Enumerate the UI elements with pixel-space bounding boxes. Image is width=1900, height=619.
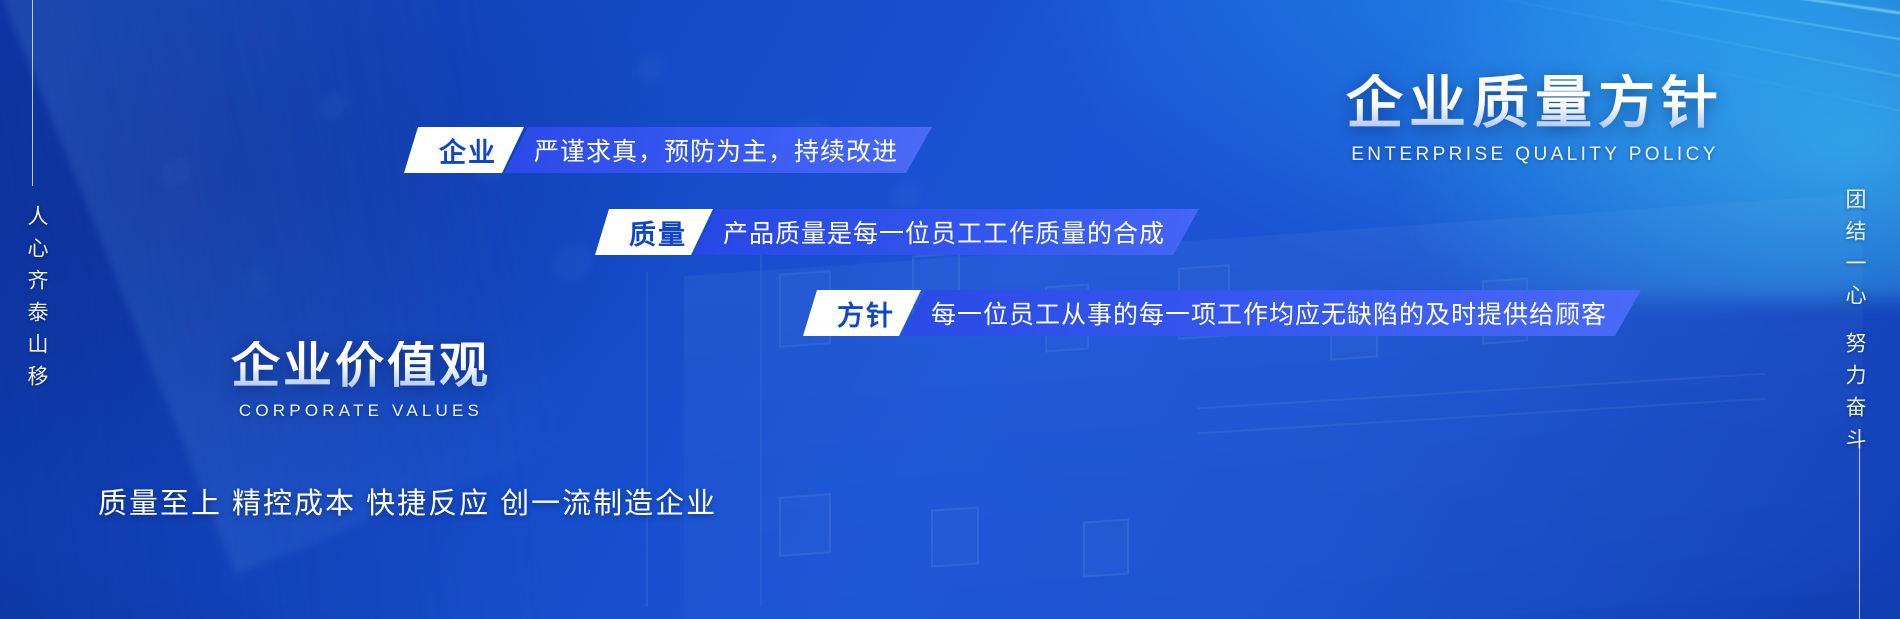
headline-subtitle-en: ENTERPRISE QUALITY POLICY xyxy=(1346,144,1724,166)
corporate-values-block: 企业价值观 CORPORATE VALUES xyxy=(196,341,526,421)
corporate-values-title-cn: 企业价值观 xyxy=(196,341,526,392)
banner-canvas: 人心齐泰山移 团结一心 努力奋斗 企业质量方针 ENTERPRISE QUALI… xyxy=(0,0,1900,619)
policy-row-3-text: 每一位员工从事的每一项工作均应无缺陷的及时提供给顾客 xyxy=(931,295,1607,331)
policy-row-2-text: 产品质量是每一位员工工作质量的合成 xyxy=(723,214,1165,250)
policy-row-3: 方针 每一位员工从事的每一项工作均应无缺陷的及时提供给顾客 xyxy=(803,290,1641,336)
corporate-values-subtitle-en: CORPORATE VALUES xyxy=(196,401,526,421)
policy-row-2-tag: 质量 xyxy=(595,209,713,255)
policy-row-2: 质量 产品质量是每一位员工工作质量的合成 xyxy=(595,209,1199,255)
policy-row-2-tag-label: 质量 xyxy=(629,213,687,252)
policy-row-1-tag-label: 企业 xyxy=(439,131,497,170)
policy-row-1-bar: 严谨求真，预防为主，持续改进 xyxy=(504,127,932,173)
policy-row-3-tag: 方针 xyxy=(803,290,921,336)
policy-row-1-text: 严谨求真，预防为主，持续改进 xyxy=(534,132,898,168)
headline-block: 企业质量方针 ENTERPRISE QUALITY POLICY xyxy=(1346,74,1724,166)
right-vertical-rule xyxy=(1859,438,1860,619)
policy-row-3-tag-label: 方针 xyxy=(837,294,895,333)
left-vertical-rule xyxy=(32,0,33,186)
policy-row-3-bar: 每一位员工从事的每一项工作均应无缺陷的及时提供给顾客 xyxy=(901,290,1641,336)
corporate-values-slogan: 质量至上 精控成本 快捷反应 创一流制造企业 xyxy=(98,480,717,522)
policy-row-2-bar: 产品质量是每一位员工工作质量的合成 xyxy=(693,209,1199,255)
left-vertical-text: 人心齐泰山移 xyxy=(22,205,52,397)
headline-title-cn: 企业质量方针 xyxy=(1346,74,1724,134)
policy-row-1: 企业 严谨求真，预防为主，持续改进 xyxy=(404,127,932,173)
right-vertical-text: 团结一心 努力奋斗 xyxy=(1840,188,1870,460)
policy-row-1-tag: 企业 xyxy=(404,127,524,173)
